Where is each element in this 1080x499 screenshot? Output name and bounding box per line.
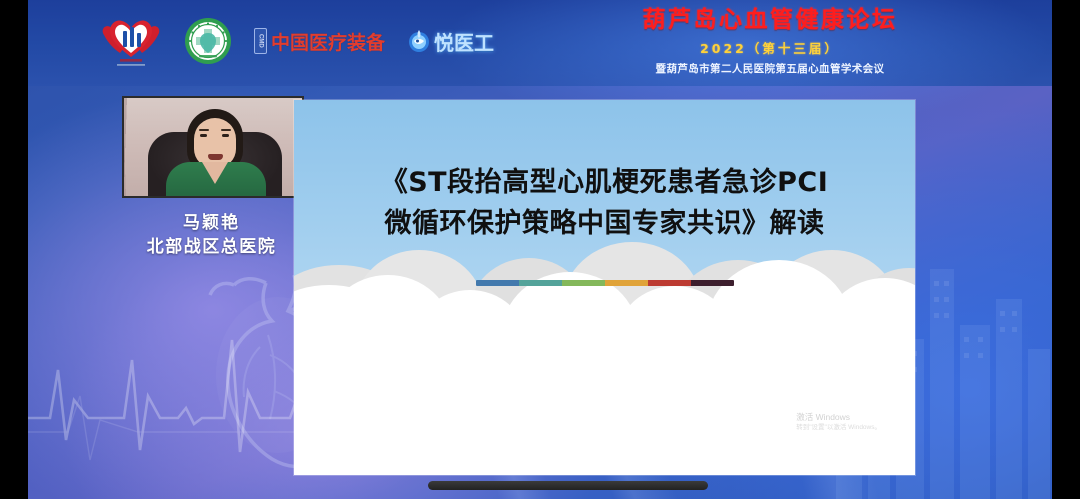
- presentation-slide[interactable]: 《ST段抬高型心肌梗死患者急诊PCI 微循环保护策略中国专家共识》解读 激活 W…: [294, 100, 915, 475]
- cmd-badge: CMD: [254, 28, 267, 54]
- video-stage: CMD 中国医疗装备 悦医工 葫芦岛心血管健康论坛 2022（第十三届） 暨葫芦…: [0, 0, 1080, 499]
- letterbox-right: [1052, 0, 1080, 499]
- accent-segment-1: [476, 280, 519, 286]
- cmd-logo-text: 中国医疗装备: [271, 28, 385, 55]
- watermark-title: 激活 Windows: [796, 411, 881, 424]
- green-medical-seal-logo: [184, 17, 232, 65]
- accent-segment-4: [605, 280, 648, 286]
- webcam-mouth: [208, 154, 223, 160]
- conference-subtitle: 暨葫芦岛市第二人民医院第五届心血管学术会议: [610, 61, 930, 76]
- video-frame[interactable]: CMD 中国医疗装备 悦医工 葫芦岛心血管健康论坛 2022（第十三届） 暨葫芦…: [28, 0, 1052, 499]
- presenter-webcam[interactable]: [122, 96, 304, 198]
- slide-title-line-1: 《ST段抬高型心肌梗死患者急诊PCI: [381, 167, 829, 198]
- conference-header: 葫芦岛心血管健康论坛 2022（第十三届） 暨葫芦岛市第二人民医院第五届心血管学…: [610, 8, 930, 76]
- yueyigong-logo: 悦医工: [407, 27, 494, 56]
- conference-title: 葫芦岛心血管健康论坛: [610, 8, 930, 34]
- accent-segment-5: [648, 280, 691, 286]
- webcam-brow-right: [221, 129, 231, 131]
- webcam-eye-right: [222, 134, 229, 137]
- slide-title: 《ST段抬高型心肌梗死患者急诊PCI 微循环保护策略中国专家共识》解读: [294, 162, 915, 244]
- slide-white-area: [294, 310, 915, 475]
- presenter-card: 马颖艳 北部战区总医院: [104, 96, 319, 266]
- accent-segment-6: [691, 280, 734, 286]
- watermark-subtitle: 转到"设置"以激活 Windows。: [796, 423, 881, 433]
- china-medical-device-logo: CMD 中国医疗装备: [254, 28, 385, 55]
- sponsor-logo-row: CMD 中国医疗装备 悦医工: [100, 8, 494, 74]
- presenter-name: 马颖艳: [104, 208, 319, 233]
- webcam-face: [194, 118, 236, 168]
- slide-accent-bar: [476, 280, 734, 286]
- accent-segment-2: [519, 280, 562, 286]
- accent-segment-3: [562, 280, 605, 286]
- dolphin-icon: [407, 29, 431, 53]
- slide-title-line-2: 微循环保护策略中国专家共识》解读: [294, 203, 915, 244]
- windows-activation-watermark: 激活 Windows 转到"设置"以激活 Windows。: [796, 411, 881, 434]
- webcam-brow-left: [199, 129, 209, 131]
- letterbox-left: [0, 0, 28, 499]
- heart-forum-logo: [100, 13, 162, 69]
- yueyigong-logo-text: 悦医工: [434, 27, 494, 56]
- webcam-eye-left: [200, 134, 207, 137]
- video-progress-bar[interactable]: [428, 481, 708, 490]
- conference-year: 2022（第十三届）: [610, 38, 930, 57]
- presenter-organization: 北部战区总医院: [104, 232, 319, 257]
